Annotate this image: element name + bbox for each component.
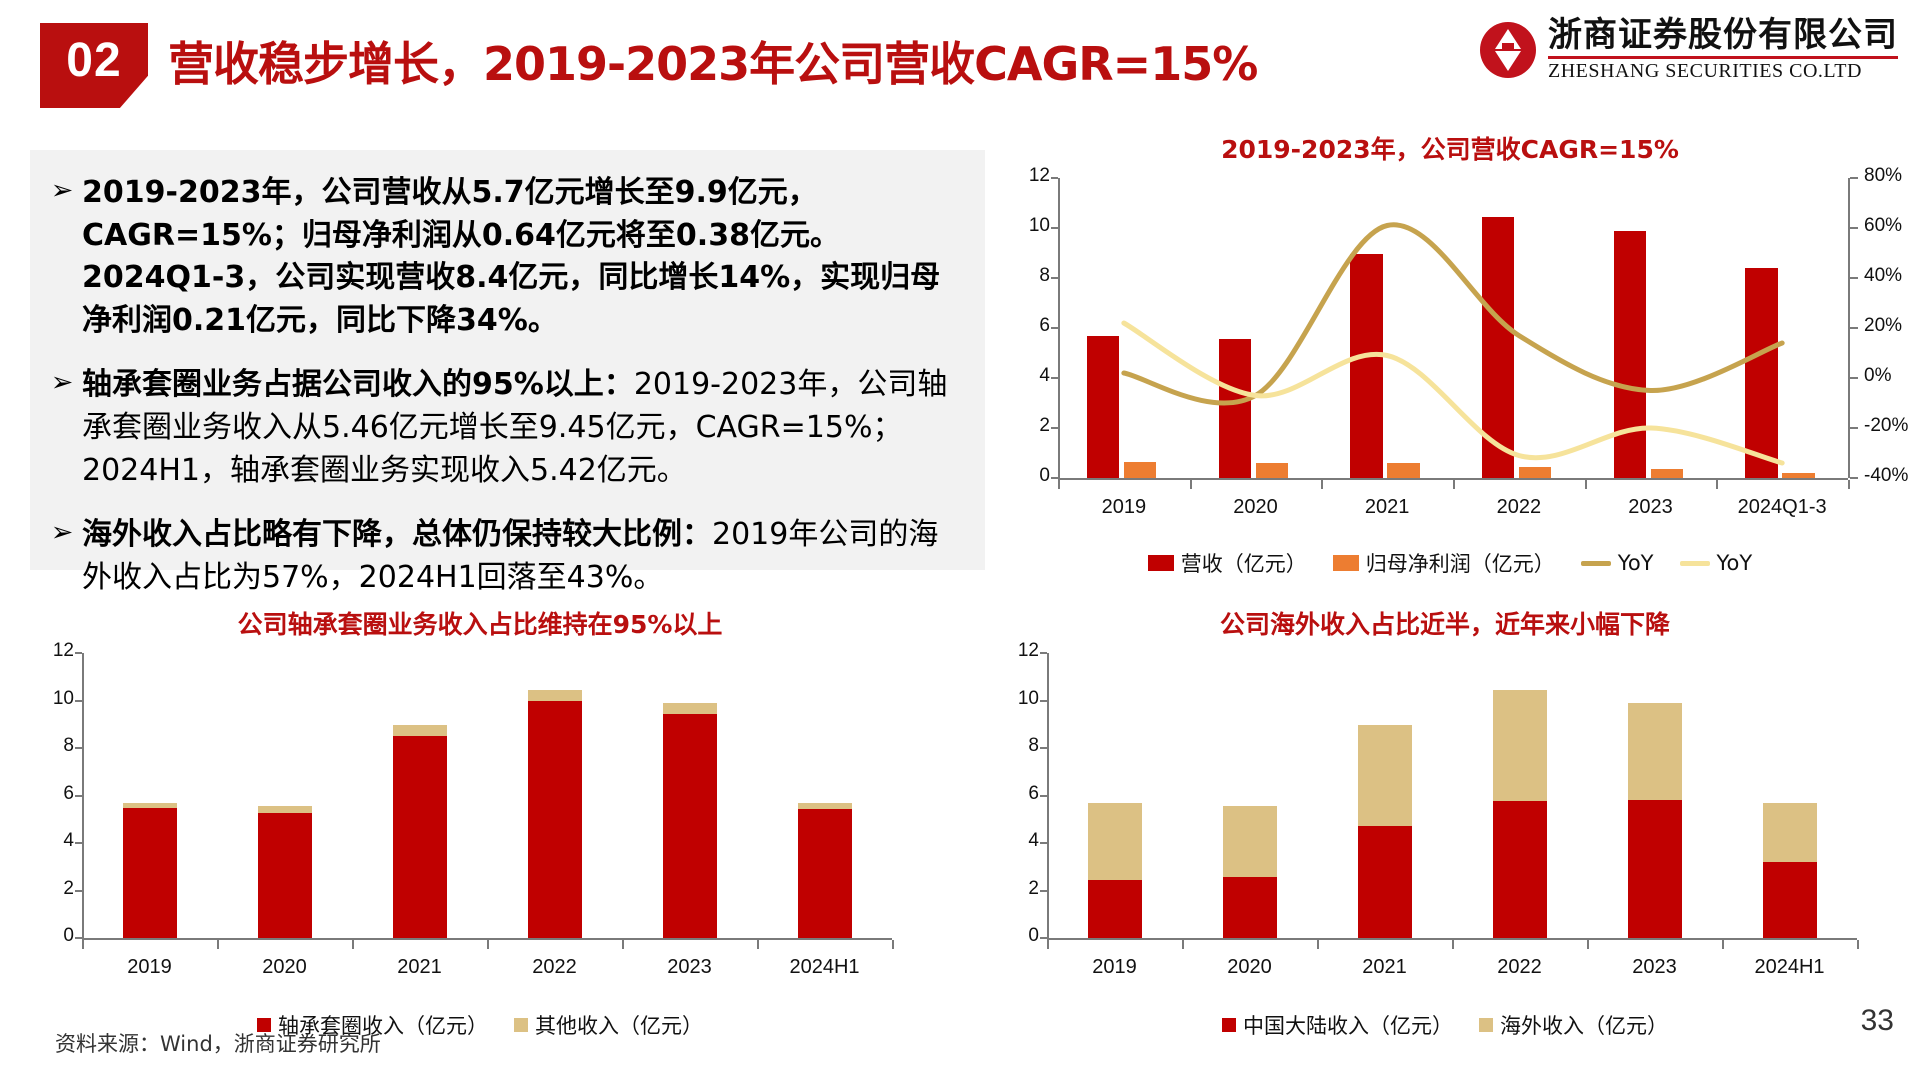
y-axis-line xyxy=(1047,653,1049,938)
legend-item: 其他收入（亿元） xyxy=(514,1010,703,1040)
zheshang-logo-icon xyxy=(1480,22,1536,78)
y-axis-tick-label: 10 xyxy=(30,688,74,710)
y-axis-tick-label: 6 xyxy=(995,783,1039,805)
x-axis-tick xyxy=(487,940,489,949)
y-axis-tick-label: 2 xyxy=(1006,415,1050,437)
secondary-y-axis-tick-label: -40% xyxy=(1864,465,1920,487)
x-axis-tick-label: 2019 xyxy=(1058,496,1190,519)
x-axis-tick-label: 2019 xyxy=(1047,956,1182,979)
bearing-ring-chart-title: 公司轴承套圈业务收入占比维持在95%以上 xyxy=(30,605,930,641)
bar-segment xyxy=(1223,806,1277,877)
legend-line-swatch xyxy=(1680,561,1710,566)
y-axis-tick xyxy=(75,747,82,749)
bar-segment xyxy=(1763,862,1817,938)
logo-company-name-cn: 浙商证券股份有限公司 xyxy=(1548,18,1898,54)
legend-item: 海外收入（亿元） xyxy=(1479,1010,1668,1040)
yoy-line-overlay xyxy=(1058,178,1848,478)
bar-segment xyxy=(258,806,312,813)
bullet-item: ➢ 2019-2023年，公司营收从5.7亿元增长至9.9亿元，CAGR=15%… xyxy=(42,172,967,342)
y-axis-tick-label: 0 xyxy=(995,925,1039,947)
y-axis-tick xyxy=(1051,377,1058,379)
x-axis-tick-label: 2024Q1-3 xyxy=(1716,496,1848,519)
legend-item: 中国大陆收入（亿元） xyxy=(1222,1010,1453,1040)
x-axis-tick xyxy=(217,940,219,949)
bar-segment xyxy=(663,714,717,938)
bar-segment xyxy=(528,690,582,701)
bullet-bold-text: 海外收入占比略有下降，总体仍保持较大比例： xyxy=(82,517,712,552)
revenue-chart-title: 2019-2023年，公司营收CAGR=15% xyxy=(1000,130,1900,166)
secondary-y-axis-tick-label: -20% xyxy=(1864,415,1920,437)
y-axis-tick-label: 0 xyxy=(1006,465,1050,487)
x-axis-tick xyxy=(1716,480,1718,489)
secondary-y-axis-tick-label: 0% xyxy=(1864,365,1920,387)
y-axis-tick xyxy=(75,700,82,702)
revenue-plot-area: 024681012-40%-20%0%20%40%60%80%201920202… xyxy=(1058,178,1848,478)
y-axis-tick xyxy=(1040,937,1047,939)
x-axis-tick xyxy=(82,940,84,949)
bar-segment xyxy=(393,736,447,938)
y-axis-tick xyxy=(1051,477,1058,479)
x-axis-tick xyxy=(1452,940,1454,949)
x-axis-tick-label: 2024H1 xyxy=(757,956,892,979)
y-axis-tick xyxy=(1051,277,1058,279)
legend-label: YoY xyxy=(1717,551,1753,575)
y-axis-tick xyxy=(75,795,82,797)
logo-text-block: 浙商证券股份有限公司 ZHESHANG SECURITIES CO.LTD xyxy=(1548,18,1898,82)
x-axis-tick-label: 2022 xyxy=(487,956,622,979)
source-note: 资料来源：Wind，浙商证券研究所 xyxy=(55,1028,381,1058)
bar-segment xyxy=(1358,826,1412,938)
bullet-marker-icon: ➢ xyxy=(42,514,82,599)
bar-segment xyxy=(1088,880,1142,938)
x-axis-tick xyxy=(1848,480,1850,489)
bar-segment xyxy=(528,701,582,938)
legend-color-swatch xyxy=(1333,555,1359,571)
secondary-y-axis-tick xyxy=(1850,327,1858,329)
x-axis-tick-label: 2020 xyxy=(217,956,352,979)
legend-label: 中国大陆收入（亿元） xyxy=(1243,1010,1453,1040)
page-number: 33 xyxy=(1861,1004,1894,1038)
bar-segment xyxy=(393,725,447,736)
secondary-y-axis-tick-label: 40% xyxy=(1864,265,1920,287)
x-axis-tick xyxy=(622,940,624,949)
y-axis-tick xyxy=(1051,227,1058,229)
revenue-chart-legend: 营收（亿元）归母净利润（亿元）YoYYoY xyxy=(1000,548,1900,578)
x-axis-tick-label: 2021 xyxy=(352,956,487,979)
secondary-y-axis-tick xyxy=(1850,177,1858,179)
bullet-text: 海外收入占比略有下降，总体仍保持较大比例：2019年公司的海外收入占比为57%，… xyxy=(82,514,967,599)
bullet-text: 2019-2023年，公司营收从5.7亿元增长至9.9亿元，CAGR=15%；归… xyxy=(82,172,967,342)
page-title: 营收稳步增长，2019-2023年公司营收CAGR=15% xyxy=(168,28,1257,94)
legend-color-swatch xyxy=(1479,1018,1493,1032)
secondary-y-axis-tick xyxy=(1850,427,1858,429)
secondary-y-axis-tick xyxy=(1850,377,1858,379)
x-axis-tick-label: 2019 xyxy=(82,956,217,979)
key-points-panel: ➢ 2019-2023年，公司营收从5.7亿元增长至9.9亿元，CAGR=15%… xyxy=(30,150,985,570)
y-axis-tick-label: 8 xyxy=(1006,265,1050,287)
y-axis-tick-label: 12 xyxy=(30,640,74,662)
legend-color-swatch xyxy=(514,1018,528,1032)
bearing-ring-plot-area: 024681012201920202021202220232024H1 xyxy=(82,653,892,938)
y-axis-tick-label: 8 xyxy=(30,735,74,757)
legend-item: YoY xyxy=(1680,551,1753,575)
y-axis-tick-label: 12 xyxy=(995,640,1039,662)
x-axis-tick xyxy=(757,940,759,949)
legend-label: YoY xyxy=(1618,551,1654,575)
x-axis-tick-label: 2020 xyxy=(1182,956,1317,979)
legend-color-swatch xyxy=(1148,555,1174,571)
section-number: 02 xyxy=(66,37,121,95)
yoy-line xyxy=(1124,323,1782,463)
y-axis-tick xyxy=(1051,427,1058,429)
x-axis-tick xyxy=(1857,940,1859,949)
y-axis-tick-label: 4 xyxy=(995,830,1039,852)
y-axis-tick xyxy=(75,842,82,844)
y-axis-tick-label: 0 xyxy=(30,925,74,947)
y-axis-tick xyxy=(1040,890,1047,892)
overseas-revenue-plot-area: 024681012201920202021202220232024H1 xyxy=(1047,653,1857,938)
y-axis-tick-label: 8 xyxy=(995,735,1039,757)
bar-segment xyxy=(123,803,177,809)
bar-segment xyxy=(798,803,852,809)
x-axis-tick-label: 2020 xyxy=(1190,496,1322,519)
revenue-chart: 2019-2023年，公司营收CAGR=15% 024681012-40%-20… xyxy=(1000,130,1900,570)
slide-header: 02 营收稳步增长，2019-2023年公司营收CAGR=15% 浙商证券股份有… xyxy=(0,0,1920,120)
y-axis-tick xyxy=(1040,700,1047,702)
bullet-bold-text: 2019-2023年，公司营收从5.7亿元增长至9.9亿元，CAGR=15%；归… xyxy=(82,175,940,338)
x-axis-tick xyxy=(1585,480,1587,489)
x-axis-tick-label: 2021 xyxy=(1317,956,1452,979)
company-logo: 浙商证券股份有限公司 ZHESHANG SECURITIES CO.LTD xyxy=(1480,18,1898,82)
y-axis-tick xyxy=(1051,177,1058,179)
x-axis-tick xyxy=(1058,480,1060,489)
overseas-revenue-chart-title: 公司海外收入占比近半，近年来小幅下降 xyxy=(995,605,1895,641)
y-axis-tick xyxy=(75,652,82,654)
y-axis-tick xyxy=(1051,327,1058,329)
bar-segment xyxy=(1763,803,1817,862)
legend-label: 营收（亿元） xyxy=(1181,548,1307,578)
legend-line-swatch xyxy=(1581,561,1611,566)
x-axis-tick xyxy=(1453,480,1455,489)
secondary-y-axis-tick xyxy=(1850,477,1858,479)
x-axis-tick-label: 2021 xyxy=(1321,496,1453,519)
bar-segment xyxy=(1088,803,1142,880)
bar-segment xyxy=(1628,703,1682,800)
x-axis-tick xyxy=(352,940,354,949)
logo-divider xyxy=(1548,56,1898,59)
x-axis-tick-label: 2022 xyxy=(1452,956,1587,979)
x-axis-tick-label: 2023 xyxy=(622,956,757,979)
y-axis-tick xyxy=(1040,795,1047,797)
slide-root: 02 营收稳步增长，2019-2023年公司营收CAGR=15% 浙商证券股份有… xyxy=(0,0,1920,1080)
y-axis-tick-label: 10 xyxy=(995,688,1039,710)
y-axis-tick-label: 2 xyxy=(30,878,74,900)
section-number-badge: 02 xyxy=(40,23,148,108)
y-axis-tick xyxy=(75,937,82,939)
y-axis-tick-label: 12 xyxy=(1006,165,1050,187)
y-axis-tick-label: 4 xyxy=(1006,365,1050,387)
secondary-y-axis-tick xyxy=(1850,227,1858,229)
x-axis-tick xyxy=(1190,480,1192,489)
bearing-ring-chart: 公司轴承套圈业务收入占比维持在95%以上 0246810122019202020… xyxy=(30,605,930,1035)
x-axis-tick-label: 2024H1 xyxy=(1722,956,1857,979)
y-axis-tick-label: 6 xyxy=(1006,315,1050,337)
legend-item: 营收（亿元） xyxy=(1148,548,1307,578)
legend-label: 其他收入（亿元） xyxy=(535,1010,703,1040)
bar-segment xyxy=(123,808,177,938)
bullet-item: ➢ 海外收入占比略有下降，总体仍保持较大比例：2019年公司的海外收入占比为57… xyxy=(42,514,967,599)
x-axis-tick-label: 2023 xyxy=(1587,956,1722,979)
yoy-line xyxy=(1124,225,1782,403)
y-axis-tick-label: 2 xyxy=(995,878,1039,900)
bullet-marker-icon: ➢ xyxy=(42,364,82,492)
y-axis-tick-label: 4 xyxy=(30,830,74,852)
y-axis-tick xyxy=(75,890,82,892)
legend-item: 归母净利润（亿元） xyxy=(1333,548,1555,578)
y-axis-tick xyxy=(1040,747,1047,749)
secondary-y-axis-tick-label: 60% xyxy=(1864,215,1920,237)
y-axis-tick xyxy=(1040,652,1047,654)
logo-company-name-en: ZHESHANG SECURITIES CO.LTD xyxy=(1548,60,1898,82)
y-axis-tick-label: 10 xyxy=(1006,215,1050,237)
x-axis-tick xyxy=(1587,940,1589,949)
legend-label: 归母净利润（亿元） xyxy=(1366,548,1555,578)
overseas-revenue-chart: 公司海外收入占比近半，近年来小幅下降 024681012201920202021… xyxy=(995,605,1895,1035)
secondary-y-axis-tick xyxy=(1850,277,1858,279)
bar-segment xyxy=(258,813,312,938)
x-axis-tick xyxy=(892,940,894,949)
x-axis-tick xyxy=(1317,940,1319,949)
bullet-item: ➢ 轴承套圈业务占据公司收入的95%以上：2019-2023年，公司轴承套圈业务… xyxy=(42,364,967,492)
secondary-y-axis-tick-label: 20% xyxy=(1864,315,1920,337)
bullet-text: 轴承套圈业务占据公司收入的95%以上：2019-2023年，公司轴承套圈业务收入… xyxy=(82,364,967,492)
bar-segment xyxy=(1493,690,1547,802)
overseas-revenue-chart-legend: 中国大陆收入（亿元）海外收入（亿元） xyxy=(995,1010,1895,1040)
y-axis-tick-label: 6 xyxy=(30,783,74,805)
x-axis-tick xyxy=(1182,940,1184,949)
y-axis-tick xyxy=(1040,842,1047,844)
legend-color-swatch xyxy=(1222,1018,1236,1032)
bar-segment xyxy=(1493,801,1547,938)
bar-segment xyxy=(1358,725,1412,826)
legend-label: 海外收入（亿元） xyxy=(1500,1010,1668,1040)
y-axis-line xyxy=(82,653,84,938)
x-axis-tick xyxy=(1321,480,1323,489)
bar-segment xyxy=(1628,800,1682,938)
bar-segment xyxy=(798,809,852,938)
x-axis-tick xyxy=(1722,940,1724,949)
x-axis-tick-label: 2023 xyxy=(1585,496,1717,519)
bar-segment xyxy=(663,703,717,714)
x-axis-tick xyxy=(1047,940,1049,949)
legend-item: YoY xyxy=(1581,551,1654,575)
bullet-marker-icon: ➢ xyxy=(42,172,82,342)
bullet-bold-text: 轴承套圈业务占据公司收入的95%以上： xyxy=(82,367,634,402)
bar-segment xyxy=(1223,877,1277,938)
secondary-y-axis-tick-label: 80% xyxy=(1864,165,1920,187)
x-axis-tick-label: 2022 xyxy=(1453,496,1585,519)
